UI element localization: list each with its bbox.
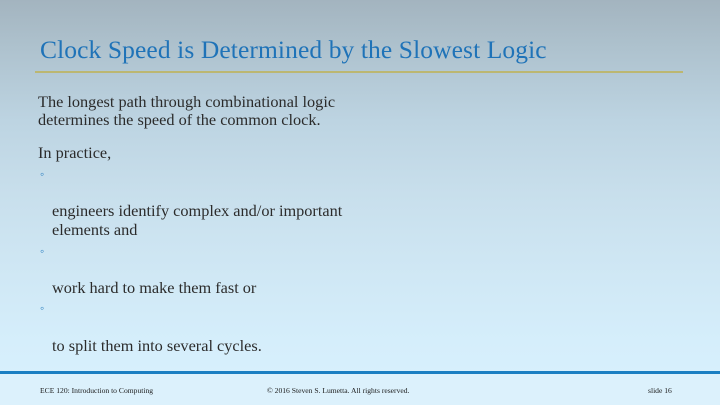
title-area: Clock Speed is Determined by the Slowest…	[0, 34, 720, 76]
page-title: Clock Speed is Determined by the Slowest…	[40, 34, 547, 66]
list-item-label: engineers identify complex and/or import…	[52, 201, 342, 239]
list-item-label: to split them into several cycles.	[52, 336, 262, 355]
footer-slide-number: slide 16	[648, 386, 672, 396]
footer-copyright-label: © 2016 Steven S. Lumetta. All rights res…	[267, 386, 409, 396]
bullet-circle-icon: ◦	[40, 299, 44, 318]
presentation-slide: Clock Speed is Determined by the Slowest…	[0, 0, 720, 405]
bullet-circle-icon: ◦	[40, 242, 44, 261]
bullet-circle-icon: ◦	[40, 165, 44, 184]
list-item: ◦ engineers identify complex and/or impo…	[38, 165, 678, 239]
paragraph-intro: The longest path through combinational l…	[38, 93, 678, 130]
footer-course-label: ECE 120: Introduction to Computing	[40, 386, 153, 396]
list-item-label: work hard to make them fast or	[52, 278, 256, 297]
slide-body: The longest path through combinational l…	[38, 93, 678, 405]
bullet-list: ◦ engineers identify complex and/or impo…	[38, 165, 678, 355]
paragraph-in-practice: In practice,	[38, 144, 678, 162]
list-item: ◦ to split them into several cycles.	[38, 299, 678, 355]
title-underline-rule	[35, 71, 683, 73]
list-item: ◦ work hard to make them fast or	[38, 242, 678, 298]
